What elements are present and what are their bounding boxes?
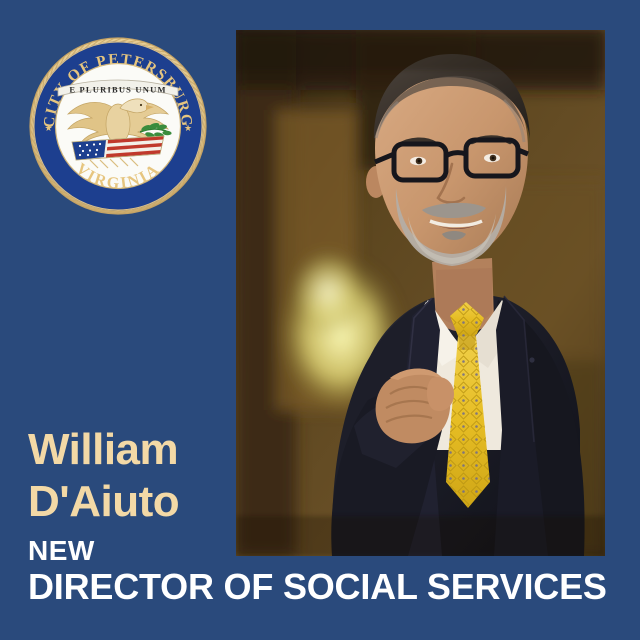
seal-star-right-icon: ★ — [184, 123, 192, 133]
announcement-poster: CITY OF PETERSBURG VIRGINIA ★ ★ E PLURIB… — [0, 0, 640, 640]
seal-star-left-icon: ★ — [45, 123, 53, 133]
role-label: DIRECTOR OF SOCIAL SERVICES — [28, 566, 628, 608]
portrait-photo — [236, 30, 605, 556]
person-name-first: William — [28, 424, 243, 476]
person-name-last: D'Aiuto — [28, 476, 243, 528]
person-name: William D'Aiuto — [28, 424, 243, 528]
new-label: NEW — [28, 536, 628, 566]
city-seal: CITY OF PETERSBURG VIRGINIA ★ ★ E PLURIB… — [28, 36, 208, 216]
position-title: NEW DIRECTOR OF SOCIAL SERVICES — [28, 536, 628, 608]
seal-motto-text: E PLURIBUS UNUM — [69, 85, 166, 95]
